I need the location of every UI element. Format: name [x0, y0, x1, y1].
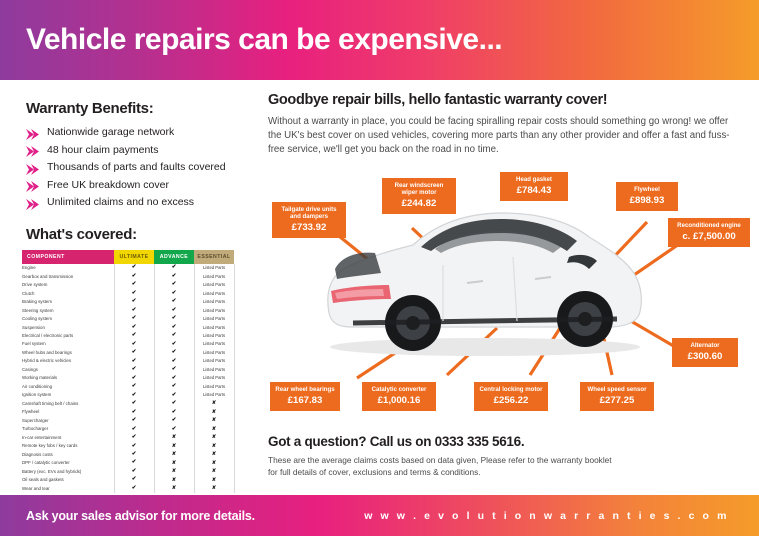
- table-row: Electrical / electronic parts✔✔Listed Pa…: [22, 332, 234, 340]
- callout-reconditioned-engine: Reconditioned enginec. £7,500.00: [668, 218, 750, 247]
- callout-price: £256.22: [479, 395, 543, 406]
- listed-parts-value: Listed Parts: [194, 366, 234, 374]
- tick-icon: ✔: [154, 315, 194, 323]
- table-header-row: Component ULTIMATE ADVANCE ESSENTIAL: [22, 250, 234, 264]
- listed-parts-value: Listed Parts: [194, 332, 234, 340]
- right-heading: Goodbye repair bills, hello fantastic wa…: [268, 92, 738, 108]
- callout-price: £733.92: [277, 222, 341, 233]
- component-name: Drive system: [22, 281, 114, 289]
- benefit-label: Thousands of parts and faults covered: [47, 161, 226, 173]
- cross-icon: ✘: [154, 442, 194, 450]
- right-column: Goodbye repair bills, hello fantastic wa…: [268, 92, 738, 156]
- table-row: Flywheel✔✔✘: [22, 408, 234, 416]
- callout-flywheel: Flywheel£898.93: [616, 182, 678, 211]
- table-row: Drive system✔✔Listed Parts: [22, 281, 234, 289]
- tick-icon: ✔: [114, 289, 154, 297]
- table-row: Suspension✔✔Listed Parts: [22, 323, 234, 331]
- callout-head-gasket: Head gasket£784.43: [500, 172, 568, 201]
- cross-icon: ✘: [194, 434, 234, 442]
- footer-website[interactable]: w w w . e v o l u t i o n w a r r a n t …: [364, 510, 759, 522]
- tick-icon: ✔: [114, 306, 154, 314]
- tick-icon: ✔: [114, 459, 154, 467]
- car-illustration: [317, 195, 647, 360]
- tick-icon: ✔: [154, 400, 194, 408]
- component-name: Clutch: [22, 289, 114, 297]
- tick-icon: ✔: [114, 357, 154, 365]
- tick-icon: ✔: [114, 281, 154, 289]
- benefit-item: 48 hour claim payments: [26, 144, 241, 156]
- table-row: Steering system✔✔Listed Parts: [22, 306, 234, 314]
- cta-disclaimer: These are the average claims costs based…: [268, 454, 618, 478]
- cross-icon: ✘: [194, 442, 234, 450]
- callout-tailgate-drive-units: Tailgate drive units and dampers£733.92: [272, 202, 346, 238]
- component-name: Air conditioning: [22, 383, 114, 391]
- tick-icon: ✔: [154, 264, 194, 272]
- tick-icon: ✔: [114, 366, 154, 374]
- callout-alternator: Alternator£300.60: [672, 338, 738, 367]
- table-row: Clutch✔✔Listed Parts: [22, 289, 234, 297]
- tick-icon: ✔: [154, 306, 194, 314]
- tick-icon: ✔: [154, 374, 194, 382]
- callout-part-name: Reconditioned engine: [673, 222, 745, 229]
- component-name: Cooling system: [22, 315, 114, 323]
- tick-icon: ✔: [114, 264, 154, 272]
- benefit-item: Nationwide garage network: [26, 126, 241, 138]
- component-name: Wheel hubs and bearings: [22, 349, 114, 357]
- tick-icon: ✔: [114, 434, 154, 442]
- cross-icon: ✘: [194, 417, 234, 425]
- tick-icon: ✔: [114, 315, 154, 323]
- listed-parts-value: Listed Parts: [194, 340, 234, 348]
- component-name: Camshaft timing belt / chains: [22, 400, 114, 408]
- cross-icon: ✘: [194, 485, 234, 493]
- tick-icon: ✔: [114, 400, 154, 408]
- tick-icon: ✔: [114, 476, 154, 484]
- table-row: Casings✔✔Listed Parts: [22, 366, 234, 374]
- callout-price: £167.83: [275, 395, 335, 406]
- table-row: Fuel system✔✔Listed Parts: [22, 340, 234, 348]
- car-diagram: Tailgate drive units and dampers£733.92 …: [262, 160, 759, 425]
- benefit-label: Nationwide garage network: [47, 126, 174, 138]
- table-row: Braking system✔✔Listed Parts: [22, 298, 234, 306]
- component-name: Braking system: [22, 298, 114, 306]
- listed-parts-value: Listed Parts: [194, 272, 234, 280]
- cross-icon: ✘: [194, 468, 234, 476]
- table-row: Hybrid & electric vehicles✔✔Listed Parts: [22, 357, 234, 365]
- cta-heading: Got a question? Call us on 0333 335 5616…: [268, 434, 618, 449]
- listed-parts-value: Listed Parts: [194, 383, 234, 391]
- component-name: Gearbox and transmission: [22, 272, 114, 280]
- callout-part-name: Rear wheel bearings: [275, 386, 335, 393]
- callout-rear-wheel-bearings: Rear wheel bearings£167.83: [270, 382, 340, 411]
- tick-icon: ✔: [154, 366, 194, 374]
- benefit-item: Free UK breakdown cover: [26, 179, 241, 191]
- table-row: Cooling system✔✔Listed Parts: [22, 315, 234, 323]
- tick-icon: ✔: [114, 349, 154, 357]
- arrow-bullet-icon: [26, 144, 39, 155]
- listed-parts-value: Listed Parts: [194, 298, 234, 306]
- table-row: Turbocharger✔✔✘: [22, 425, 234, 433]
- benefits-list: Nationwide garage network48 hour claim p…: [26, 126, 241, 208]
- cross-icon: ✘: [194, 425, 234, 433]
- listed-parts-value: Listed Parts: [194, 323, 234, 331]
- arrow-bullet-icon: [26, 127, 39, 138]
- poster-page: Vehicle repairs can be expensive... Warr…: [0, 0, 759, 536]
- column-header-component: Component: [22, 250, 114, 264]
- cross-icon: ✘: [194, 476, 234, 484]
- table-row: Remote key fobs / key cards✔✘✘: [22, 442, 234, 450]
- benefit-label: Unlimited claims and no excess: [47, 196, 194, 208]
- component-name: Wear and tear: [22, 485, 114, 493]
- tick-icon: ✔: [154, 391, 194, 399]
- tick-icon: ✔: [114, 451, 154, 459]
- callout-price: £244.82: [387, 198, 451, 209]
- cross-icon: ✘: [194, 408, 234, 416]
- component-name: Hybrid & electric vehicles: [22, 357, 114, 365]
- tick-icon: ✔: [114, 425, 154, 433]
- tick-icon: ✔: [154, 298, 194, 306]
- table-row: Oil seals and gaskets✔✘✘: [22, 476, 234, 484]
- column-header-essential: ESSENTIAL: [194, 250, 234, 264]
- callout-part-name: Central locking motor: [479, 386, 543, 393]
- cross-icon: ✘: [154, 468, 194, 476]
- page-footer: Ask your sales advisor for more details.…: [0, 495, 759, 536]
- tick-icon: ✔: [114, 340, 154, 348]
- cross-icon: ✘: [154, 485, 194, 493]
- arrow-bullet-icon: [26, 179, 39, 190]
- benefit-item: Thousands of parts and faults covered: [26, 161, 241, 173]
- tick-icon: ✔: [114, 442, 154, 450]
- tick-icon: ✔: [114, 391, 154, 399]
- table-row: Wheel hubs and bearings✔✔Listed Parts: [22, 349, 234, 357]
- callout-part-name: Wheel speed sensor: [585, 386, 649, 393]
- right-body-text: Without a warranty in place, you could b…: [268, 115, 738, 156]
- callout-price: £1,000.16: [367, 395, 431, 406]
- tick-icon: ✔: [154, 349, 194, 357]
- tick-icon: ✔: [114, 417, 154, 425]
- benefits-heading: Warranty Benefits:: [26, 100, 241, 117]
- tick-icon: ✔: [154, 332, 194, 340]
- arrow-bullet-icon: [26, 162, 39, 173]
- tick-icon: ✔: [154, 425, 194, 433]
- callout-price: £784.43: [505, 185, 563, 196]
- callout-price: £300.60: [677, 351, 733, 362]
- table-row: Ignition system✔✔Listed Parts: [22, 391, 234, 399]
- cross-icon: ✘: [194, 459, 234, 467]
- table-row: Wear and tear✔✘✘: [22, 485, 234, 493]
- whats-covered-heading: What's covered:: [26, 226, 241, 243]
- cross-icon: ✘: [194, 400, 234, 408]
- component-name: Electrical / electronic parts: [22, 332, 114, 340]
- callout-price: £898.93: [621, 195, 673, 206]
- table-row: Camshaft timing belt / chains✔✔✘: [22, 400, 234, 408]
- tick-icon: ✔: [154, 357, 194, 365]
- listed-parts-value: Listed Parts: [194, 289, 234, 297]
- tick-icon: ✔: [154, 340, 194, 348]
- cross-icon: ✘: [154, 434, 194, 442]
- column-header-advance: ADVANCE: [154, 250, 194, 264]
- component-name: Oil seals and gaskets: [22, 476, 114, 484]
- tick-icon: ✔: [114, 298, 154, 306]
- callout-rear-windscreen-wiper-motor: Rear windscreen wiper motor£244.82: [382, 178, 456, 214]
- callout-part-name: Rear windscreen wiper motor: [387, 182, 451, 196]
- component-name: Diagnosis costs: [22, 451, 114, 459]
- listed-parts-value: Listed Parts: [194, 349, 234, 357]
- benefit-label: 48 hour claim payments: [47, 144, 158, 156]
- tick-icon: ✔: [154, 383, 194, 391]
- cross-icon: ✘: [154, 459, 194, 467]
- callout-part-name: Alternator: [677, 342, 733, 349]
- table-row: In-car entertainment✔✘✘: [22, 434, 234, 442]
- table-row: Air conditioning✔✔Listed Parts: [22, 383, 234, 391]
- tick-icon: ✔: [114, 485, 154, 493]
- table-row: Battery (exc. EVs and hybrids)✔✘✘: [22, 468, 234, 476]
- tick-icon: ✔: [114, 374, 154, 382]
- component-name: Steering system: [22, 306, 114, 314]
- component-name: Engine: [22, 264, 114, 272]
- benefit-item: Unlimited claims and no excess: [26, 196, 241, 208]
- callout-catalytic-converter: Catalytic converter£1,000.16: [362, 382, 436, 411]
- tick-icon: ✔: [154, 289, 194, 297]
- callout-part-name: Head gasket: [505, 176, 563, 183]
- page-title: Vehicle repairs can be expensive...: [0, 23, 502, 57]
- component-name: Flywheel: [22, 408, 114, 416]
- table-body: Engine✔✔Listed PartsGearbox and transmis…: [22, 264, 234, 493]
- callout-part-name: Flywheel: [621, 186, 673, 193]
- tick-icon: ✔: [154, 408, 194, 416]
- tick-icon: ✔: [114, 408, 154, 416]
- left-column: Warranty Benefits: Nationwide garage net…: [26, 100, 241, 243]
- component-name: DPF / catalytic converter: [22, 459, 114, 467]
- table-row: Gearbox and transmission✔✔Listed Parts: [22, 272, 234, 280]
- tick-icon: ✔: [114, 468, 154, 476]
- listed-parts-value: Listed Parts: [194, 264, 234, 272]
- table-row: Diagnosis costs✔✘✘: [22, 451, 234, 459]
- component-name: Fuel system: [22, 340, 114, 348]
- footer-message: Ask your sales advisor for more details.: [0, 509, 255, 523]
- tick-icon: ✔: [114, 272, 154, 280]
- callout-wheel-speed-sensor: Wheel speed sensor£277.25: [580, 382, 654, 411]
- component-name: Suspension: [22, 323, 114, 331]
- callout-central-locking-motor: Central locking motor£256.22: [474, 382, 548, 411]
- callout-price: £277.25: [585, 395, 649, 406]
- tick-icon: ✔: [154, 281, 194, 289]
- tick-icon: ✔: [114, 323, 154, 331]
- listed-parts-value: Listed Parts: [194, 281, 234, 289]
- component-name: Battery (exc. EVs and hybrids): [22, 468, 114, 476]
- component-name: Supercharger: [22, 417, 114, 425]
- component-name: In-car entertainment: [22, 434, 114, 442]
- callout-price: c. £7,500.00: [673, 231, 745, 242]
- tick-icon: ✔: [114, 332, 154, 340]
- table-row: Working materials✔✔Listed Parts: [22, 374, 234, 382]
- tick-icon: ✔: [154, 272, 194, 280]
- listed-parts-value: Listed Parts: [194, 315, 234, 323]
- cross-icon: ✘: [154, 451, 194, 459]
- listed-parts-value: Listed Parts: [194, 306, 234, 314]
- component-name: Remote key fobs / key cards: [22, 442, 114, 450]
- component-name: Working materials: [22, 374, 114, 382]
- component-name: Casings: [22, 366, 114, 374]
- cross-icon: ✘: [154, 476, 194, 484]
- table-row: Supercharger✔✔✘: [22, 417, 234, 425]
- table-row: Engine✔✔Listed Parts: [22, 264, 234, 272]
- coverage-table: Component ULTIMATE ADVANCE ESSENTIAL Eng…: [22, 250, 234, 536]
- tick-icon: ✔: [154, 417, 194, 425]
- component-name: Ignition system: [22, 391, 114, 399]
- listed-parts-value: Listed Parts: [194, 374, 234, 382]
- component-name: Turbocharger: [22, 425, 114, 433]
- listed-parts-value: Listed Parts: [194, 391, 234, 399]
- callout-part-name: Tailgate drive units and dampers: [277, 206, 341, 220]
- listed-parts-value: Listed Parts: [194, 357, 234, 365]
- column-header-ultimate: ULTIMATE: [114, 250, 154, 264]
- table-row: DPF / catalytic converter✔✘✘: [22, 459, 234, 467]
- benefit-label: Free UK breakdown cover: [47, 179, 169, 191]
- tick-icon: ✔: [154, 323, 194, 331]
- tick-icon: ✔: [114, 383, 154, 391]
- coverage-table-main: Component ULTIMATE ADVANCE ESSENTIAL Eng…: [22, 250, 235, 493]
- arrow-bullet-icon: [26, 197, 39, 208]
- page-header: Vehicle repairs can be expensive...: [0, 0, 759, 80]
- callout-part-name: Catalytic converter: [367, 386, 431, 393]
- cross-icon: ✘: [194, 451, 234, 459]
- cta-section: Got a question? Call us on 0333 335 5616…: [268, 434, 618, 478]
